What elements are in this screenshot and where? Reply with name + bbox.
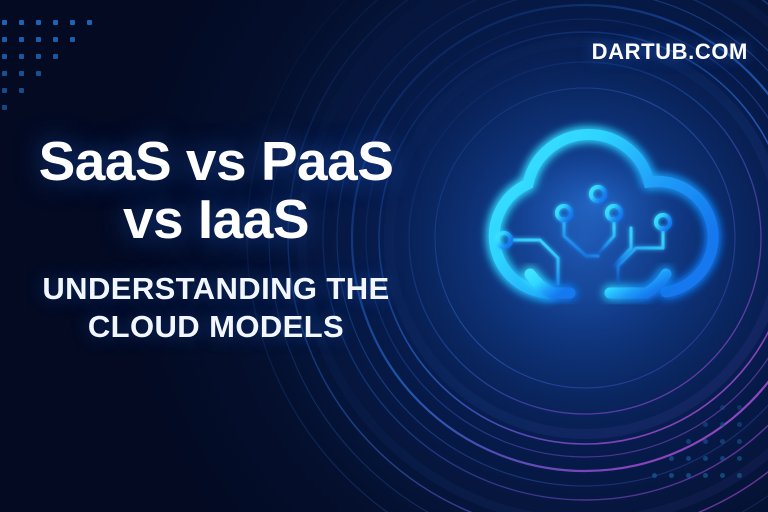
headline-block: SaaS vs PaaS vs IaaS UNDERSTANDING THE C… <box>0 132 432 346</box>
decor-dot <box>36 37 41 42</box>
decor-dot <box>53 20 58 25</box>
decor-dot <box>36 71 41 76</box>
decor-dot <box>669 456 674 461</box>
decor-dot <box>70 20 75 25</box>
decor-dot <box>2 105 7 110</box>
decor-dot <box>737 456 742 461</box>
decor-dot <box>2 71 7 76</box>
decor-dot <box>686 473 691 478</box>
decor-dot <box>737 439 742 444</box>
decor-dot <box>19 71 24 76</box>
decor-dot <box>686 439 691 444</box>
decor-dot <box>720 422 725 427</box>
decor-dot <box>2 20 7 25</box>
decor-dot <box>703 439 708 444</box>
subtitle-line-2: CLOUD MODELS <box>88 309 344 344</box>
decor-dot <box>737 422 742 427</box>
decor-dot <box>737 473 742 478</box>
decor-dot <box>19 37 24 42</box>
decor-dot <box>720 439 725 444</box>
brand-logo[interactable]: DARTUB.COM <box>592 39 748 65</box>
decor-dot <box>720 456 725 461</box>
dot-grid-top-left <box>2 20 104 122</box>
dot-grid-bottom-right <box>652 405 754 490</box>
decor-dot <box>36 54 41 59</box>
decor-dot <box>686 456 691 461</box>
decor-dot <box>19 54 24 59</box>
decor-dot <box>669 473 674 478</box>
decor-dot <box>720 473 725 478</box>
decor-dot <box>87 20 92 25</box>
decor-dot <box>2 88 7 93</box>
decor-dot <box>652 473 657 478</box>
decor-dot <box>53 54 58 59</box>
decor-dot <box>703 473 708 478</box>
decor-dot <box>19 20 24 25</box>
title-line-1: SaaS vs PaaS <box>39 130 394 192</box>
decor-dot <box>19 88 24 93</box>
page-title: SaaS vs PaaS vs IaaS <box>0 132 432 248</box>
decor-dot <box>70 37 75 42</box>
decor-dot <box>703 456 708 461</box>
decor-dot <box>703 422 708 427</box>
title-line-2: vs IaaS <box>123 188 309 250</box>
cloud-circuit-graphic <box>418 88 758 408</box>
promo-banner: DARTUB.COM SaaS vs PaaS vs IaaS UNDERSTA… <box>0 0 768 512</box>
subtitle-line-1: UNDERSTANDING THE <box>42 271 389 306</box>
decor-dot <box>53 37 58 42</box>
decor-dot <box>2 37 7 42</box>
cloud-circuit-svg <box>418 88 758 408</box>
page-subtitle: UNDERSTANDING THE CLOUD MODELS <box>0 270 432 346</box>
decor-dot <box>36 20 41 25</box>
decor-dot <box>2 54 7 59</box>
